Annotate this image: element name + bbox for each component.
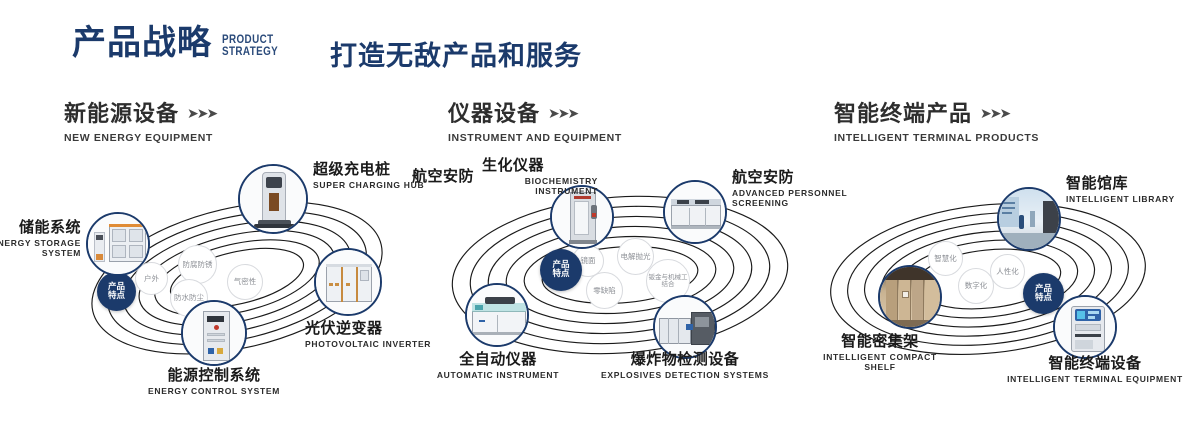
product-label-en: ENERGY CONTROL SYSTEM [84,386,344,397]
product-caption-energy-storage: 储能系统 ENERGY STORAGE SYSTEM [0,219,81,259]
feature-bubble: 气密性 [227,264,263,300]
feature-bubble: 防腐防锈 [178,245,217,284]
chevrons-icon: ➤➤➤ [187,106,216,122]
feature-bubble: 零缺陷 [586,272,623,309]
product-caption-automatic-instrument: 全自动仪器 AUTOMATIC INSTRUMENT [403,351,593,380]
section-heading-cn: 新能源设备➤➤➤ [64,96,216,128]
core-bubble-line2: 特点 [1035,294,1052,303]
product-label-en: BIOCHEMISTRY INSTRUMENT [482,176,598,197]
feature-bubble: 人性化 [990,254,1025,289]
product-photo-pv-inverter-cabinet[interactable] [314,248,382,316]
chevrons-icon: ➤➤➤ [980,106,1009,122]
product-photo-charging-pile[interactable] [238,164,308,234]
product-caption-terminal-equipment: 智能终端设备 INTELLIGENT TERMINAL EQUIPMENT [995,355,1195,384]
product-label-cn: 智能馆库 [1066,175,1196,192]
core-bubble-product-features: 产品 特点 [97,272,136,311]
product-photo-screening-machine[interactable] [663,180,727,244]
poster-canvas: 产品战略 PRODUCT STRATEGY 打造无敌产品和服务 新能源设备➤➤➤… [0,0,1200,422]
product-caption-biochemistry: 生化仪器 BIOCHEMISTRY INSTRUMENT [482,157,602,197]
cluster-instrument-and-equipment: 镜面 电解抛光 钣金与机械工结合 零缺陷 产品 特点 航空安防 [420,155,820,405]
section-heading-en: INTELLIGENT TERMINAL PRODUCTS [834,132,1039,144]
product-label-cn: 储能系统 [0,219,81,236]
feature-bubble: 数字化 [958,268,994,304]
core-bubble-product-features: 产品 特点 [540,249,582,291]
product-label-cn: 智能终端设备 [995,355,1195,372]
section-heading-en: NEW ENERGY EQUIPMENT [64,132,216,144]
section-heading-cn: 仪器设备➤➤➤ [448,96,622,128]
poster-title-cn: 产品战略 [72,26,212,60]
product-label-cn: 生化仪器 [482,157,602,174]
section-heading-intelligent: 智能终端产品➤➤➤ INTELLIGENT TERMINAL PRODUCTS [834,96,1039,144]
product-photo-self-service-kiosk[interactable] [1053,295,1117,359]
core-bubble-line2: 特点 [552,270,569,279]
chevrons-icon: ➤➤➤ [548,106,577,122]
product-label-en: AUTOMATIC INSTRUMENT [403,370,593,381]
product-photo-control-cabinet[interactable] [181,300,247,366]
product-label-en: ENERGY STORAGE SYSTEM [0,238,81,259]
product-photo-compact-shelf[interactable] [878,265,942,329]
poster-title-en-line2: STRATEGY [222,45,278,57]
product-caption-explosives-detection: 爆炸物检测设备 EXPLOSIVES DETECTION SYSTEMS [570,351,800,380]
product-caption-energy-control: 能源控制系统 ENERGY CONTROL SYSTEM [84,367,344,396]
poster-title: 产品战略 PRODUCT STRATEGY [72,26,290,60]
product-label-cn: 爆炸物检测设备 [570,351,800,368]
product-caption-compact-shelf: 智能密集架 INTELLIGENT COMPACT SHELF [790,333,970,373]
section-heading-cn: 智能终端产品➤➤➤ [834,96,1039,128]
cluster-new-energy-equipment: 防腐防锈 户外 气密性 防水防尘 产品 特点 [55,155,455,405]
core-bubble-line2: 特点 [108,292,125,301]
product-label-cn: 智能密集架 [790,333,970,350]
product-label-cn: 能源控制系统 [84,367,344,384]
cluster-intelligent-terminal-products: 智慧化 数字化 人性化 产品 特点 [800,155,1200,405]
poster-subtitle: 打造无敌产品和服务 [330,34,582,73]
product-caption-intelligent-library: 智能馆库 INTELLIGENT LIBRARY [1066,175,1196,204]
product-photo-library-interior[interactable] [997,187,1061,251]
product-label-cn: 全自动仪器 [403,351,593,368]
section-heading-instrument: 仪器设备➤➤➤ INSTRUMENT AND EQUIPMENT [448,96,622,144]
product-photo-energy-storage-cabinet[interactable] [86,212,150,276]
section-heading-new-energy: 新能源设备➤➤➤ NEW ENERGY EQUIPMENT [64,96,216,144]
product-label-en: INTELLIGENT COMPACT SHELF [790,352,970,373]
product-label-en: INTELLIGENT TERMINAL EQUIPMENT [995,374,1195,385]
section-heading-en: INSTRUMENT AND EQUIPMENT [448,132,622,144]
poster-title-en: PRODUCT STRATEGY [222,33,278,57]
product-photo-automatic-analyzer[interactable] [465,283,529,347]
product-label-en: EXPLOSIVES DETECTION SYSTEMS [570,370,800,381]
product-label-en: INTELLIGENT LIBRARY [1066,194,1196,205]
